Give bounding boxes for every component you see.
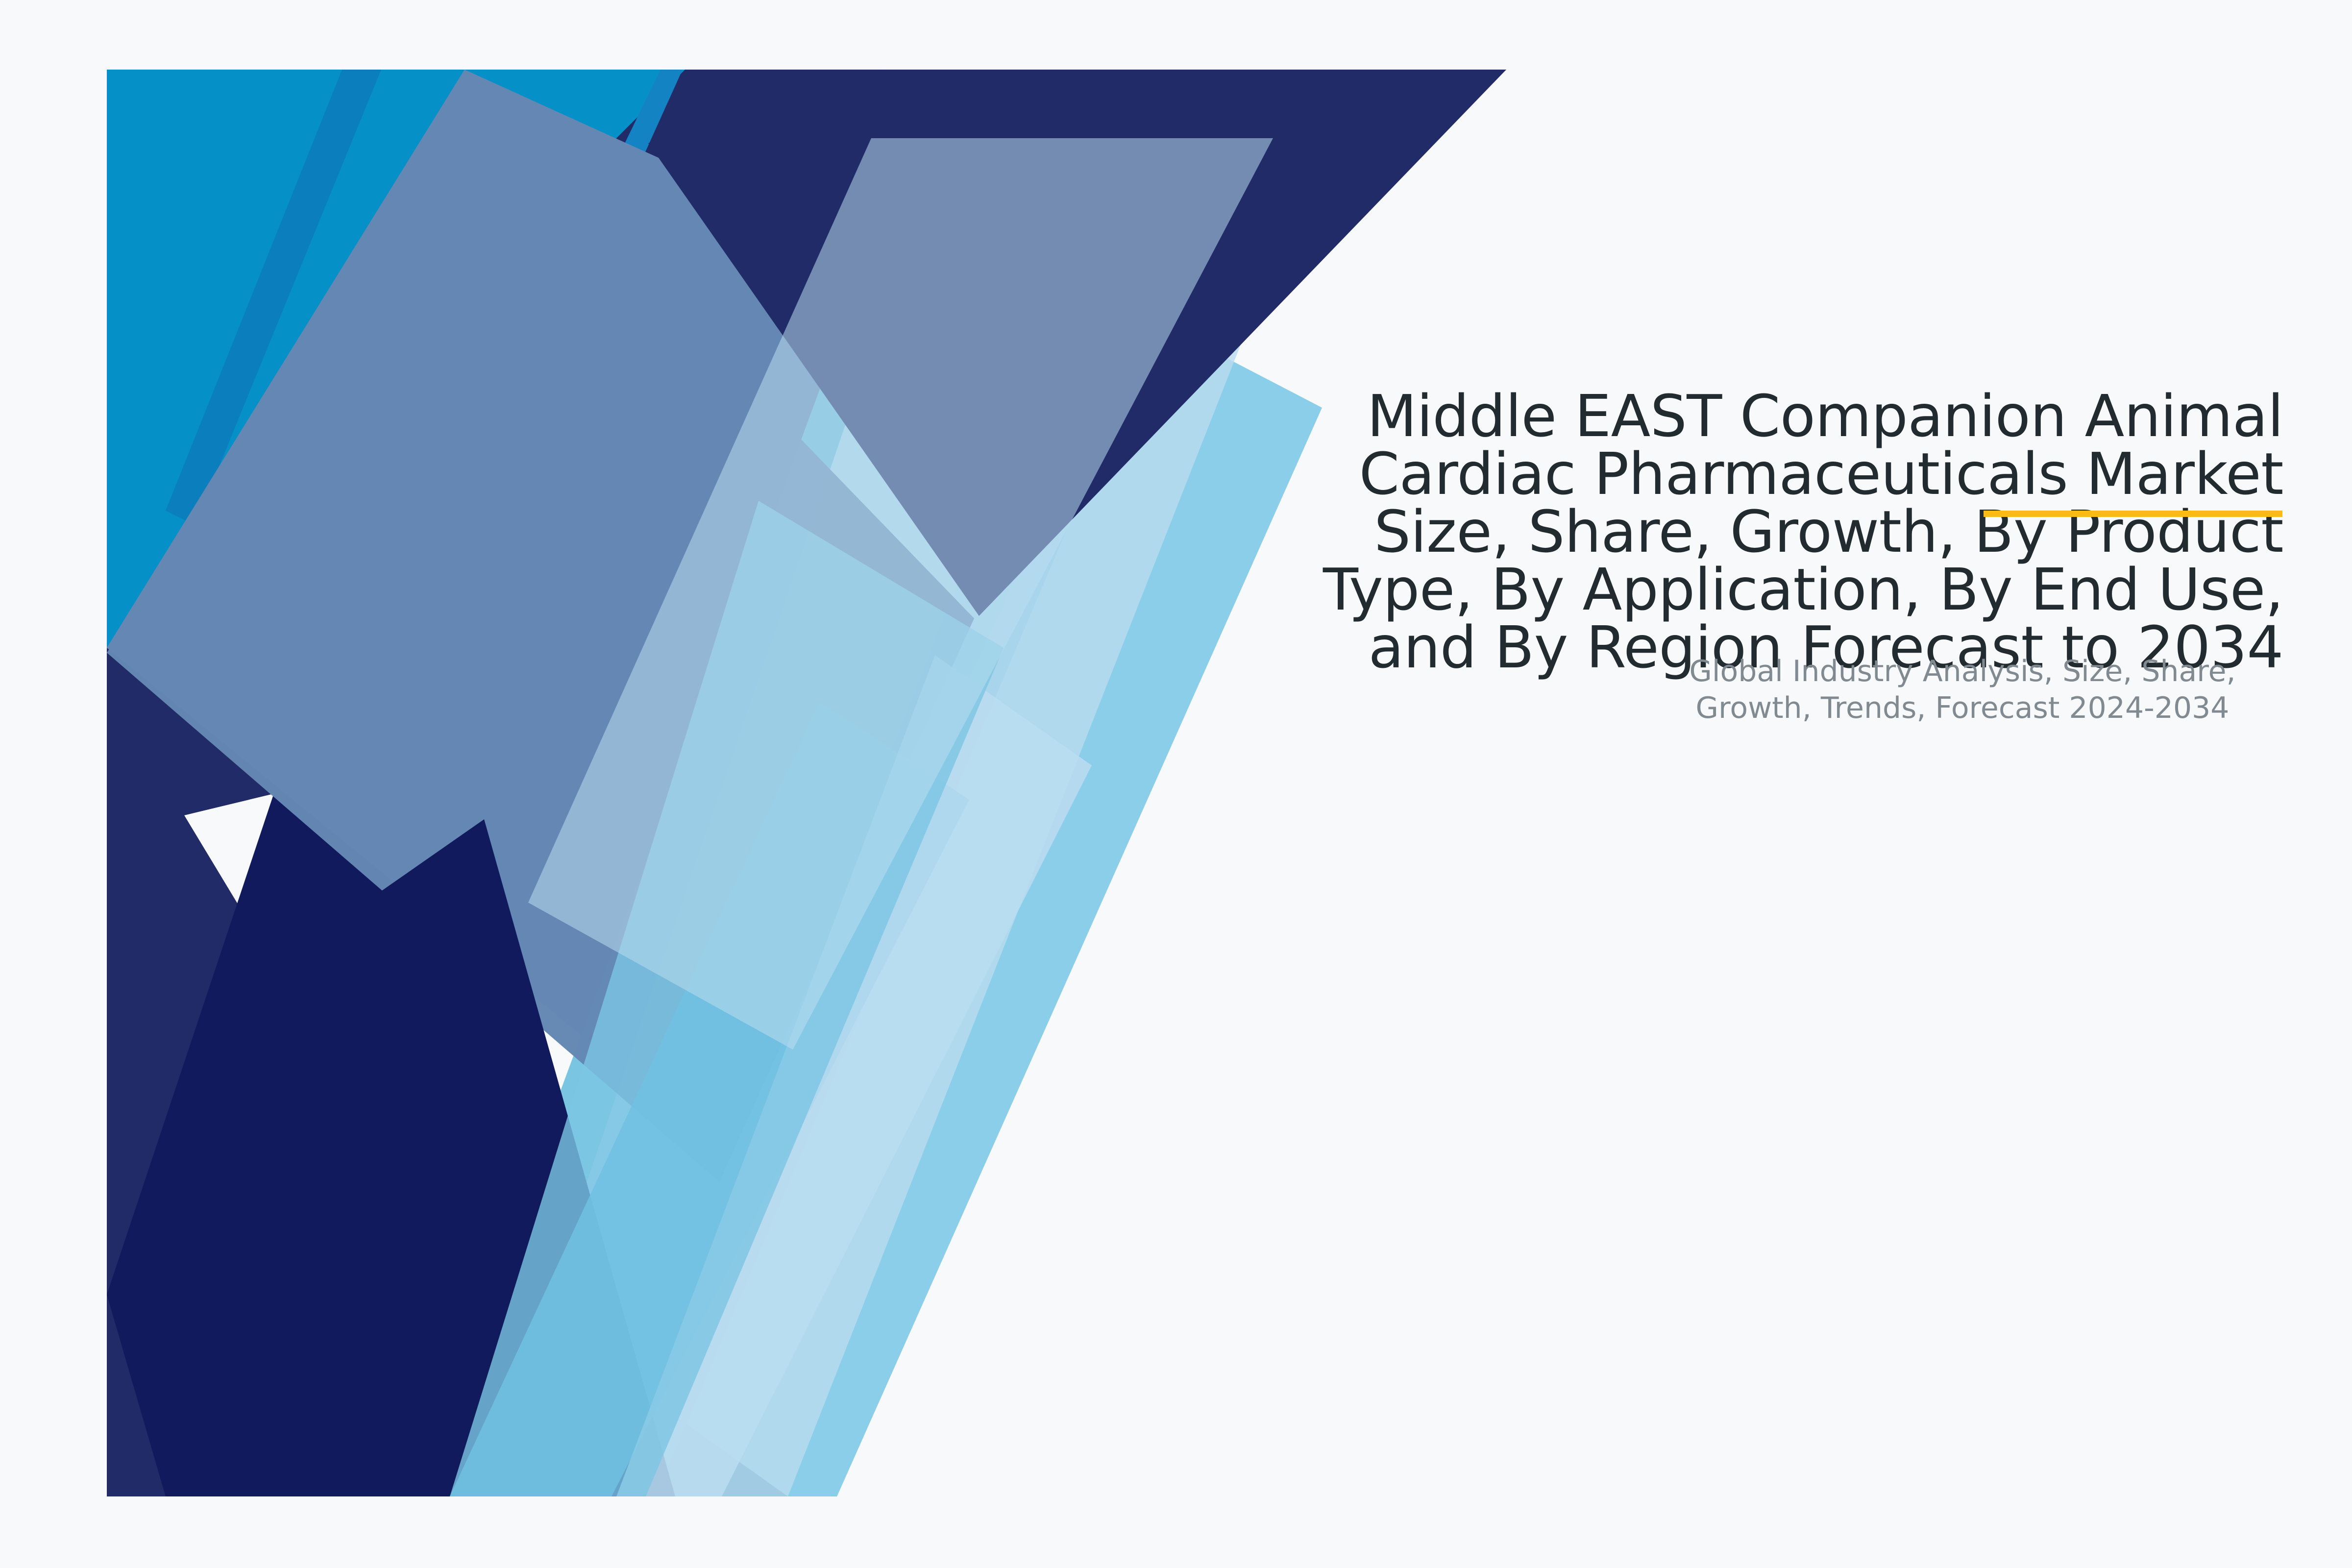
hero-title-block: Middle EAST Companion Animal Cardiac Pha… <box>931 387 2283 676</box>
abstract-geometric-artwork <box>107 70 1506 1496</box>
page-subtitle: Global Industry Analysis, Size, Share, G… <box>1639 653 2286 727</box>
page-title: Middle EAST Companion Animal Cardiac Pha… <box>931 387 2283 676</box>
slide-canvas: Middle EAST Companion Animal Cardiac Pha… <box>0 0 2352 1568</box>
artwork-svg <box>107 70 1506 1496</box>
